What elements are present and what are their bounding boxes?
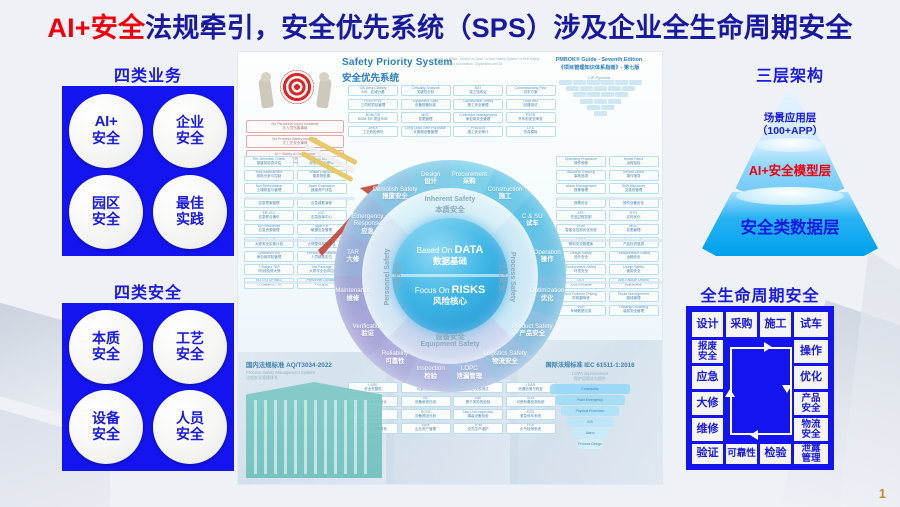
lifecycle-loop-arrowheads — [730, 347, 792, 435]
poster-chip-top-13[interactable]: APEX工艺危险辨识 — [348, 126, 398, 137]
poster-chip-right-4-cn: 操作指导 — [627, 175, 641, 179]
poster-chip-top-8[interactable]: Loop test回路测试 — [506, 99, 556, 110]
title-highlight: AI+安全 — [47, 6, 145, 45]
poster-chip-top-10-cn: 变更管理 — [419, 118, 433, 122]
poster-chip-left-9-cn: 应急联合通讯 — [259, 216, 280, 220]
lifecycle-cell-construction[interactable]: 施工 — [759, 311, 792, 338]
core-risk-cn: 风险核心 — [392, 297, 508, 307]
wheel-segment-14-cn: 应急 — [339, 228, 397, 236]
poster-chip-right-group-divider — [556, 239, 662, 242]
poster-chip-right-12[interactable]: MOC变更管理 — [609, 224, 659, 235]
wheel-segment-15[interactable]: Demolish Safety报废安全 — [366, 186, 424, 201]
lifecycle-product-line1: 产品 — [801, 394, 820, 404]
lifecycle-cell-product-safety[interactable]: 产品 安全 — [793, 391, 829, 416]
lifecycle-cell-emergency[interactable]: 应急 — [691, 365, 724, 390]
poster-chip-right-4[interactable]: InPlant Direct操作指导 — [609, 170, 659, 181]
poster-chip-left-13-cn: 大修安全实施计划 — [255, 243, 283, 247]
poster-chip-right-16[interactable]: Transportation Safety运输安全 — [609, 251, 659, 262]
quadrant-process-en: Process Safety — [507, 232, 516, 322]
title-rest: 法规牵引，安全优先系统（SPS）涉及企业全生命周期安全 — [145, 6, 852, 45]
core-data-en: Based On — [417, 246, 453, 255]
wheel-quadrant-process: Process Safety 工艺安全 — [498, 232, 516, 322]
business-circle-4-line2: 实践 — [176, 212, 204, 228]
wheel-segment-7-en: Logistics Safety — [476, 350, 534, 357]
quadrant-personnel-cn: 人员安全 — [393, 232, 402, 322]
wheel-core-data: Based On DATA 数据基础 — [392, 244, 508, 266]
intl-standard-cn: 保护层理论与提升 — [522, 376, 658, 382]
poster-chip-right-13-cn: 物料安全数据库 — [569, 243, 594, 247]
poster-chip-bottom-14-cn: 企业资产管理 — [415, 428, 436, 432]
wheel-segment-6[interactable]: Product Safety产品安全 — [503, 323, 561, 338]
goal-card-1-cn: 无人员伤害事故 — [282, 127, 307, 131]
lopa-layer-4: SIS — [567, 417, 614, 427]
poster-chip-top-14-cn: 长周期设备管理 — [413, 131, 438, 135]
wheel-core-risk: Focus On RISKS 风险核心 — [392, 284, 508, 306]
wheel-segment-13-en: TAR — [324, 249, 382, 256]
lifecycle-cell-demolish[interactable]: 报废 安全 — [691, 339, 724, 364]
poster-chip-top-12[interactable]: PSSR开车前安全审查 — [506, 112, 556, 123]
safety-panel: 本质 安全 工艺 安全 设备 安全 人员 安全 — [62, 303, 234, 471]
pmbok-title-cn: 《项目管理知识体系指南》- 第七版 — [538, 64, 660, 71]
domestic-standard-cn: 过程安全管理体系 — [246, 375, 382, 381]
safety-heading: 四类安全 — [62, 279, 234, 303]
safety-circle-4-line1: 人员 — [176, 411, 204, 427]
slide-canvas: AI+安全法规牵引，安全优先系统（SPS）涉及企业全生命周期安全 四类业务 AI… — [0, 0, 900, 507]
wheel-segment-9-cn: 检验 — [402, 373, 460, 381]
lifecycle-demolish-line1: 报废 — [698, 342, 717, 352]
poster-chip-top-6[interactable]: Equipment Spec设备规格标准 — [401, 99, 451, 110]
business-circle-4[interactable]: 最佳 实践 — [153, 175, 227, 249]
page-number: 1 — [879, 486, 886, 501]
wheel-segment-9-en: Inspection — [402, 365, 460, 372]
pyramid-layer-top-label: 场景应用层 （100+APP） — [700, 112, 880, 138]
poster-chip-right-15-cn: 设计安全 — [574, 256, 588, 260]
wheel-segment-5-en: Optimization — [518, 287, 576, 294]
core-data-keyword: DATA — [454, 244, 483, 256]
poster-chip-right-7-cn: 报警优化 — [574, 202, 588, 206]
business-circle-3-line1: 园区 — [92, 196, 120, 212]
wheel-quadrant-equipment: 设备安全 Equipment Safety — [405, 332, 495, 350]
lifecycle-cell-lopc[interactable]: 泄露 管理 — [793, 443, 829, 465]
wheel-segment-14[interactable]: Emergency Response应急 — [339, 213, 397, 236]
poster-chip-right-10[interactable]: RTO实时优化 — [609, 210, 659, 221]
poster-chip-top-15[interactable]: PHSSER施工安全审计 — [453, 126, 503, 137]
wheel-segment-12-en: Maintenance — [324, 287, 382, 294]
poster-chip-right-9-cn: 先进过程控制 — [571, 216, 592, 220]
safety-circle-4-line2: 安全 — [176, 427, 204, 443]
goal-card-2-cn: 无工艺安全事故 — [282, 142, 307, 146]
poster-chip-right-1-cn: 操作规程 — [574, 162, 588, 166]
lifecycle-cell-commissioning[interactable]: 试车 — [793, 311, 829, 338]
poster-chip-left-15-cn: 承包商风险管理 — [257, 256, 282, 260]
lifecycle-cell-verification[interactable]: 验证 — [691, 443, 724, 465]
lifecycle-cell-maintenance[interactable]: 维修 — [691, 417, 724, 442]
safety-circle-3[interactable]: 设备 安全 — [69, 390, 143, 464]
lifecycle-diagram: 设计 采购 施工 试车 报废 安全 应急 大修 维修 验证 操作 优化 产品 安… — [686, 306, 834, 470]
safety-circle-4[interactable]: 人员 安全 — [153, 390, 227, 464]
poster-chip-left-17-cn: 7阶段检修大修 — [258, 270, 281, 274]
poster-chip-right-24-cn: 装卸安全管理 — [623, 310, 644, 314]
poster-chip-bottom-10-cn: 设备根因分析 — [415, 415, 436, 419]
wheel-segment-9[interactable]: Inspection检验 — [402, 365, 460, 380]
poster-chip-right-20-cn: 防疲劳驾驶 — [625, 283, 643, 287]
poster-chip-left-1-cn: 报废前检查评估 — [257, 162, 282, 166]
wheel-quadrant-personnel: Personnel Safety 人员安全 — [384, 232, 402, 322]
poster-chip-right-12-cn: 变更管理 — [627, 229, 641, 233]
lifecycle-cell-logistics-safety[interactable]: 物流 安全 — [793, 417, 829, 442]
lifecycle-product-line2: 安全 — [801, 404, 820, 414]
sps-wheel[interactable]: Based On DATA 数据基础 Focus On RISKS 风险核心 I… — [334, 160, 566, 392]
quadrant-equipment-en: Equipment Safety — [405, 341, 495, 350]
wheel-segment-4[interactable]: Operation操作 — [518, 249, 576, 264]
poster-chip-top-4-cn: 试车方案 — [524, 91, 538, 95]
pyramid-middle-highlight — [755, 138, 825, 152]
lifecycle-cell-inspection[interactable]: 检验 — [759, 443, 792, 465]
poster-chip-bottom-12-cn: 紧急停车系统 — [520, 415, 541, 419]
lifecycle-lopc-line2: 管理 — [801, 454, 820, 464]
poster-chip-top-5-cn: 三同时项目管理 — [361, 104, 386, 108]
poster-chip-right-11-cn: 智能化控制优化系统 — [565, 229, 597, 233]
quadrant-personnel-en: Personnel Safety — [384, 232, 393, 322]
poster-chip-right-23-cn: 车辆数据记录 — [571, 310, 592, 314]
poster-chip-right-2-cn: 远程巡检 — [627, 162, 641, 166]
goal-illustration — [250, 64, 342, 116]
architecture-pyramid: 场景应用层 （100+APP） AI+安全模型层 安全类数据层 — [700, 86, 880, 261]
business-circle-1-line2: 安全 — [92, 131, 120, 147]
quadrant-inherent-cn: 本质安全 — [405, 205, 495, 214]
wheel-segment-12[interactable]: Maintenance维修 — [324, 287, 382, 302]
poster-chip-top-3[interactable]: SAT竣工验收证 — [453, 85, 503, 96]
wheel-segment-13[interactable]: TAR大修 — [324, 249, 382, 264]
poster-chip-bottom-6[interactable]: RE设备维修在线 — [401, 396, 451, 407]
poster-chip-right-3-cn: 事故追溯 — [574, 175, 588, 179]
lifecycle-logistics-line1: 物流 — [801, 420, 820, 430]
poster-chip-right-8-cn: 操作设备优化 — [623, 202, 644, 206]
poster-chip-left-20-cn: 人员定位 — [315, 283, 329, 287]
wheel-segment-3[interactable]: C & SU试车 — [503, 213, 561, 228]
poster-chip-left-5-cn: 土壤修复与管理 — [257, 189, 282, 193]
target-icon — [280, 70, 314, 104]
poster-chip-right-2[interactable]: Smart Patrol远程巡检 — [609, 156, 659, 167]
poster-chip-bottom-15[interactable]: TPM全员生产维护 — [453, 423, 503, 434]
poster-chip-top-9[interactable]: BOM-TIEBOM-TIE 项目HSE — [348, 112, 398, 123]
wheel-segment-3-cn: 试车 — [503, 220, 561, 228]
poster-chip-top-2[interactable]: Criticality Analysis关键性分析 — [401, 85, 451, 96]
quadrant-equipment-cn: 设备安全 — [405, 332, 495, 341]
wheel-segment-4-cn: 操作 — [518, 256, 576, 264]
slide-title: AI+安全法规牵引，安全优先系统（SPS）涉及企业全生命周期安全 — [0, 4, 900, 46]
poster-chip-bottom-15-cn: 全员生产维护 — [468, 428, 489, 432]
worker-figure-left — [258, 77, 274, 108]
poster-chip-left-18-cn: 大修作业包评估 — [309, 270, 334, 274]
domestic-standard-title: 国内法规标准 AQ/T3034-2022 — [246, 360, 382, 369]
poster-chip-left-1[interactable]: Pre-Demolish Check报废前检查评估 — [244, 156, 294, 167]
poster-chip-top-1-cn: SIS、区域分基 — [361, 91, 384, 95]
poster-chip-right-16-cn: 运输安全 — [627, 256, 641, 260]
poster-chip-right-22-cn: 路线管理 — [627, 297, 641, 301]
business-circle-2[interactable]: 企业 安全 — [153, 94, 227, 168]
intl-standard-title: 国际法规标准 IEC 61511-1:2016 — [522, 360, 658, 369]
poster-chip-top-10[interactable]: MOC变更管理 — [401, 112, 451, 123]
lopa-cone-graphic: CommunityPlant EmergencyPhysical Protect… — [548, 384, 632, 456]
business-circle-2-line1: 企业 — [176, 115, 204, 131]
poster-chip-top-7-cn: 施工安全管理 — [468, 104, 489, 108]
business-circle-2-line2: 安全 — [176, 131, 204, 147]
core-risk-keyword: RISKS — [452, 284, 486, 296]
poster-title-note: Focus on Risks · Based on Data · A New S… — [434, 57, 554, 67]
wheel-segment-5-cn: 优化 — [518, 295, 576, 303]
safety-circle-1-line2: 安全 — [92, 347, 120, 363]
poster-chip-left-19-cn: 行为观察与干预 — [257, 283, 282, 287]
lifecycle-logistics-line2: 安全 — [801, 430, 820, 440]
cip-pyramid-graphic — [556, 80, 644, 140]
lopa-layer-1: Community — [550, 384, 630, 394]
lopa-layer-3: Physical Protection — [561, 406, 619, 416]
wheel-segment-13-cn: 大修 — [324, 256, 382, 264]
poster-chip-left-3[interactable]: Risk Assessment风险分析与控制 — [244, 170, 294, 181]
safety-circle-2-line2: 安全 — [176, 347, 204, 363]
poster-chip-top-14[interactable]: Long Lead Time Purchase长周期设备管理 — [401, 126, 451, 137]
poster-chip-right-10-cn: 实时优化 — [627, 216, 641, 220]
wheel-core-divider — [392, 274, 508, 277]
poster-chip-right-group-divider — [556, 197, 662, 200]
wheel-segment-15-cn: 报废安全 — [366, 193, 424, 201]
wheel-segment-11-cn: 验证 — [339, 330, 397, 338]
poster-chip-top-7[interactable]: Construction Safety施工安全管理 — [453, 99, 503, 110]
lopa-layer-2: Plant Emergency — [556, 395, 625, 405]
intl-standard-label: 国际法规标准 IEC 61511-1:2016 LOPA improvement… — [522, 360, 658, 382]
poster-chip-top-12-cn: 开车前安全审查 — [518, 118, 543, 122]
poster-chip-bottom-14[interactable]: EAM企业资产管理 — [401, 423, 451, 434]
poster-chip-right-5-cn: 报警管理 — [574, 189, 588, 193]
business-circle-1-line1: AI+ — [95, 114, 118, 131]
pyramid-bottom-highlight — [736, 187, 844, 205]
core-data-cn: 数据基础 — [392, 257, 508, 267]
poster-chip-left-9[interactable]: ER-LEC应急联合通讯 — [244, 210, 294, 221]
worker-head-left — [261, 72, 271, 82]
safety-circle-3-line1: 设备 — [92, 411, 120, 427]
poster-chip-right-6-cn: 交接班管理 — [625, 189, 643, 193]
goal-card-1: No Personnel Injury Incidents 无人员伤害事故 — [246, 120, 344, 133]
poster-chip-right-17-cn: 环境安全 — [574, 270, 588, 274]
poster-chip-left-3-cn: 风险分析与控制 — [257, 175, 282, 179]
poster-chip-right-18-cn: 使用安全 — [627, 270, 641, 274]
poster-chip-left-5[interactable]: Soil Remediation土壤修复与管理 — [244, 183, 294, 194]
safety-circle-1-line1: 本质 — [92, 331, 120, 347]
poster-chip-bottom-11[interactable]: Skid Unit Inspection撬装设备检验 — [453, 409, 503, 420]
wheel-segment-12-cn: 维修 — [324, 295, 382, 303]
lifecycle-cell-operation[interactable]: 操作 — [793, 339, 829, 364]
poster-chip-left-4-cn: 废弃物处置 — [313, 175, 331, 179]
wheel-segment-11[interactable]: Verification验证 — [339, 323, 397, 338]
poster-chip-right-14-cn: 产品标识追溯 — [623, 243, 644, 247]
business-panel: AI+ 安全 企业 安全 园区 安全 最佳 实践 — [62, 86, 234, 256]
pyramid-layer-middle-label: AI+安全模型层 — [700, 160, 880, 179]
safety-circle-1[interactable]: 本质 安全 — [69, 310, 143, 384]
worker-figure-right — [316, 77, 332, 108]
wheel-segment-14-en: Emergency Response — [339, 213, 397, 228]
poster-chip-left-7-cn: 应急预案管理 — [259, 202, 280, 206]
poster-chip-top-2-cn: 关键性分析 — [417, 91, 435, 95]
architecture-heading: 三层架构 — [700, 62, 880, 86]
wheel-segment-5[interactable]: Optimization优化 — [518, 287, 576, 302]
poster-chip-left-15[interactable]: Contractor RM承包商风险管理 — [244, 251, 294, 262]
poster-chip-top-11[interactable]: Contractor Management承包商安全管理 — [453, 112, 503, 123]
wheel-segment-2[interactable]: Construction施工 — [476, 186, 534, 201]
poster-chip-bottom-6-cn: 设备维修在线 — [415, 401, 436, 405]
wheel-segment-16[interactable]: Design设计 — [402, 171, 460, 186]
wheel-segment-2-cn: 施工 — [476, 193, 534, 201]
poster-chip-top-11-cn: 承包商安全管理 — [466, 118, 491, 122]
business-circle-3-line2: 安全 — [92, 212, 120, 228]
poster-chip-top-15-cn: 施工安全审计 — [468, 131, 489, 135]
poster-chip-right-group-divider — [556, 281, 662, 284]
poster-chip-bottom-11-cn: 撬装设备检验 — [468, 415, 489, 419]
business-heading: 四类业务 — [62, 62, 234, 86]
poster-chip-top-4[interactable]: Commissioning Plan试车方案 — [506, 85, 556, 96]
safety-circle-2-line1: 工艺 — [176, 331, 204, 347]
pyramid-top-line1: 场景应用层 — [700, 112, 880, 125]
pmbok-title-en: PMBOK® Guide - Seventh Edition — [538, 57, 660, 63]
poster-chip-top-3-cn: 竣工验收证 — [469, 91, 487, 95]
sps-poster[interactable]: Safety Priority System 安全优先系统 Focus on R… — [238, 52, 662, 484]
lifecycle-cell-optimization[interactable]: 优化 — [793, 365, 829, 390]
quadrant-process-cn: 工艺安全 — [498, 232, 507, 322]
poster-chip-left-11-cn: 应急资源管理 — [259, 229, 280, 233]
poster-chip-top-5[interactable]: FEED+FEL三同时项目管理 — [348, 99, 398, 110]
poster-chip-bottom-7-cn: 基于风险的检验 — [466, 401, 491, 405]
safety-circle-3-line2: 安全 — [92, 427, 120, 443]
lifecycle-heading: 全生命周期安全 — [686, 282, 834, 306]
lifecycle-cell-tar[interactable]: 大修 — [691, 391, 724, 416]
wheel-segment-6-cn: 产品安全 — [503, 330, 561, 338]
business-circle-1[interactable]: AI+ 安全 — [69, 94, 143, 168]
poster-chip-top-9-cn: BOM-TIE 项目HSE — [358, 118, 388, 122]
poster-chip-bottom-16-cn: 火气检测系统 — [520, 428, 541, 432]
core-risk-en: Focus On — [415, 286, 450, 295]
pyramid-layer-bottom-label: 安全类数据层 — [700, 214, 880, 238]
poster-chip-right-6[interactable]: Shift Handover交接班管理 — [609, 183, 659, 194]
lifecycle-cell-design[interactable]: 设计 — [691, 311, 724, 338]
poster-title-cn: 安全优先系统 — [342, 70, 542, 84]
pyramid-top-line2: （100+APP） — [700, 125, 880, 138]
poster-chip-right-24[interactable]: Loading/Unloading装卸安全管理 — [609, 305, 659, 316]
poster-chip-bottom-8-cn: 可燃有毒检测系统 — [517, 401, 545, 405]
poster-chip-top-8-cn: 回路测试 — [524, 104, 538, 108]
safety-circle-2[interactable]: 工艺 安全 — [153, 310, 227, 384]
wheel-segment-2-en: Construction — [476, 186, 534, 193]
poster-chip-top-6-cn: 设备规格标准 — [415, 104, 436, 108]
wheel-segment-4-en: Operation — [518, 249, 576, 256]
background-ribbon-right-lower — [830, 250, 900, 507]
poster-chip-left-11[interactable]: ER Resources应急资源管理 — [244, 224, 294, 235]
poster-chip-top-16-cn: 仿真模拟 — [524, 131, 538, 135]
poster-chip-bottom-7[interactable]: RBI基于风险的检验 — [453, 396, 503, 407]
poster-chip-right-18[interactable]: Usage Safety使用安全 — [609, 264, 659, 275]
poster-chip-top-16[interactable]: OTS仿真模拟 — [506, 126, 556, 137]
business-circle-4-line1: 最佳 — [176, 196, 204, 212]
wheel-segment-10-en: Reliability — [366, 350, 424, 357]
domestic-standard-label: 国内法规标准 AQ/T3034-2022 Process Safety Mana… — [246, 360, 382, 381]
poster-chip-bottom-10[interactable]: RCFA设备根因分析 — [401, 409, 451, 420]
poster-chip-top-13-cn: 工艺危险辨识 — [363, 131, 384, 135]
poster-chip-right-22[interactable]: Route Management路线管理 — [609, 291, 659, 302]
lopa-layer-6: Process Design — [578, 439, 603, 449]
worker-head-right — [319, 72, 329, 82]
lifecycle-cell-procurement[interactable]: 采购 — [725, 311, 758, 338]
lifecycle-cell-reliability[interactable]: 可靠性 — [725, 443, 758, 465]
wheel-segment-16-cn: 设计 — [402, 178, 460, 186]
lopa-layer-5: Alarm — [572, 428, 608, 438]
lifecycle-demolish-line2: 安全 — [698, 352, 717, 362]
poster-chip-top-1[interactable]: SIS Area ClassifySIS、区域分基 — [348, 85, 398, 96]
poster-chip-right-19-cn: 危险货物运输 — [571, 283, 592, 287]
wheel-segment-15-en: Demolish Safety — [366, 186, 424, 193]
poster-chip-left-17[interactable]: 7 Stages TAR7阶段检修大修 — [244, 264, 294, 275]
business-circle-3[interactable]: 园区 安全 — [69, 175, 143, 249]
